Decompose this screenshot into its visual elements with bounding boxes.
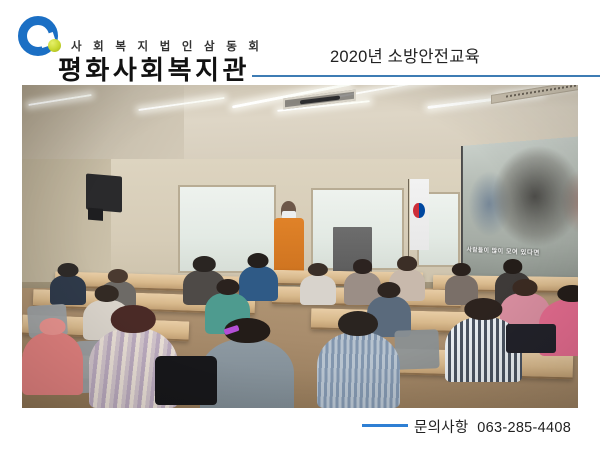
attendee-head bbox=[397, 256, 417, 270]
attendee-head bbox=[452, 263, 470, 277]
attendee-body bbox=[50, 275, 86, 304]
contact-info: 문의사항 063-285-4408 bbox=[414, 416, 571, 437]
air-conditioner-vent bbox=[491, 85, 578, 103]
attendee-head bbox=[353, 259, 373, 273]
page-title: 2020년 소방안전교육 bbox=[330, 43, 480, 67]
footer-divider bbox=[362, 424, 408, 427]
header-divider bbox=[252, 75, 600, 77]
projector-body bbox=[300, 96, 340, 105]
ceiling-light bbox=[138, 97, 224, 111]
attendee-head bbox=[558, 285, 578, 302]
attendee-body bbox=[317, 332, 400, 408]
attendee-body bbox=[22, 332, 83, 395]
organization-logo: 사 회 복 지 법 인 삼 동 회 평화사회복지관 bbox=[14, 12, 284, 78]
attendee bbox=[317, 311, 400, 408]
logo-dot-shape bbox=[48, 39, 61, 52]
attendee-head bbox=[308, 263, 328, 277]
organization-line: 사 회 복 지 법 인 삼 동 회 bbox=[71, 38, 263, 54]
photo-scene: 사람들이 많이 모여 있다면 bbox=[22, 85, 578, 408]
attendee-head bbox=[193, 256, 216, 272]
attendee-head bbox=[248, 253, 269, 268]
contact-label: 문의사항 bbox=[414, 420, 469, 436]
event-photo: 사람들이 많이 모여 있다면 bbox=[22, 85, 578, 408]
attendee-head bbox=[503, 259, 523, 273]
backpack bbox=[155, 356, 216, 404]
attendee bbox=[50, 263, 86, 305]
welfare-center-name: 평화사회복지관 bbox=[58, 57, 250, 83]
bag bbox=[506, 324, 556, 353]
chair bbox=[394, 330, 440, 370]
page-header: 사 회 복 지 법 인 삼 동 회 평화사회복지관 2020년 소방안전교육 bbox=[0, 0, 600, 85]
ceiling-light bbox=[28, 94, 91, 106]
attendee-head bbox=[57, 263, 78, 277]
attendee-head bbox=[338, 311, 378, 336]
contact-phone: 063-285-4408 bbox=[477, 420, 571, 436]
attendee-head bbox=[39, 318, 66, 335]
attendee-head bbox=[108, 269, 128, 283]
attendee bbox=[300, 263, 336, 305]
attendee-head bbox=[513, 279, 538, 296]
korean-flag bbox=[410, 179, 429, 250]
attendee bbox=[22, 318, 83, 396]
attendee-head bbox=[95, 285, 120, 301]
attendee-body bbox=[300, 275, 336, 305]
attendee-head bbox=[465, 298, 502, 320]
wall-speaker bbox=[86, 174, 122, 213]
attendee-head bbox=[111, 305, 155, 333]
